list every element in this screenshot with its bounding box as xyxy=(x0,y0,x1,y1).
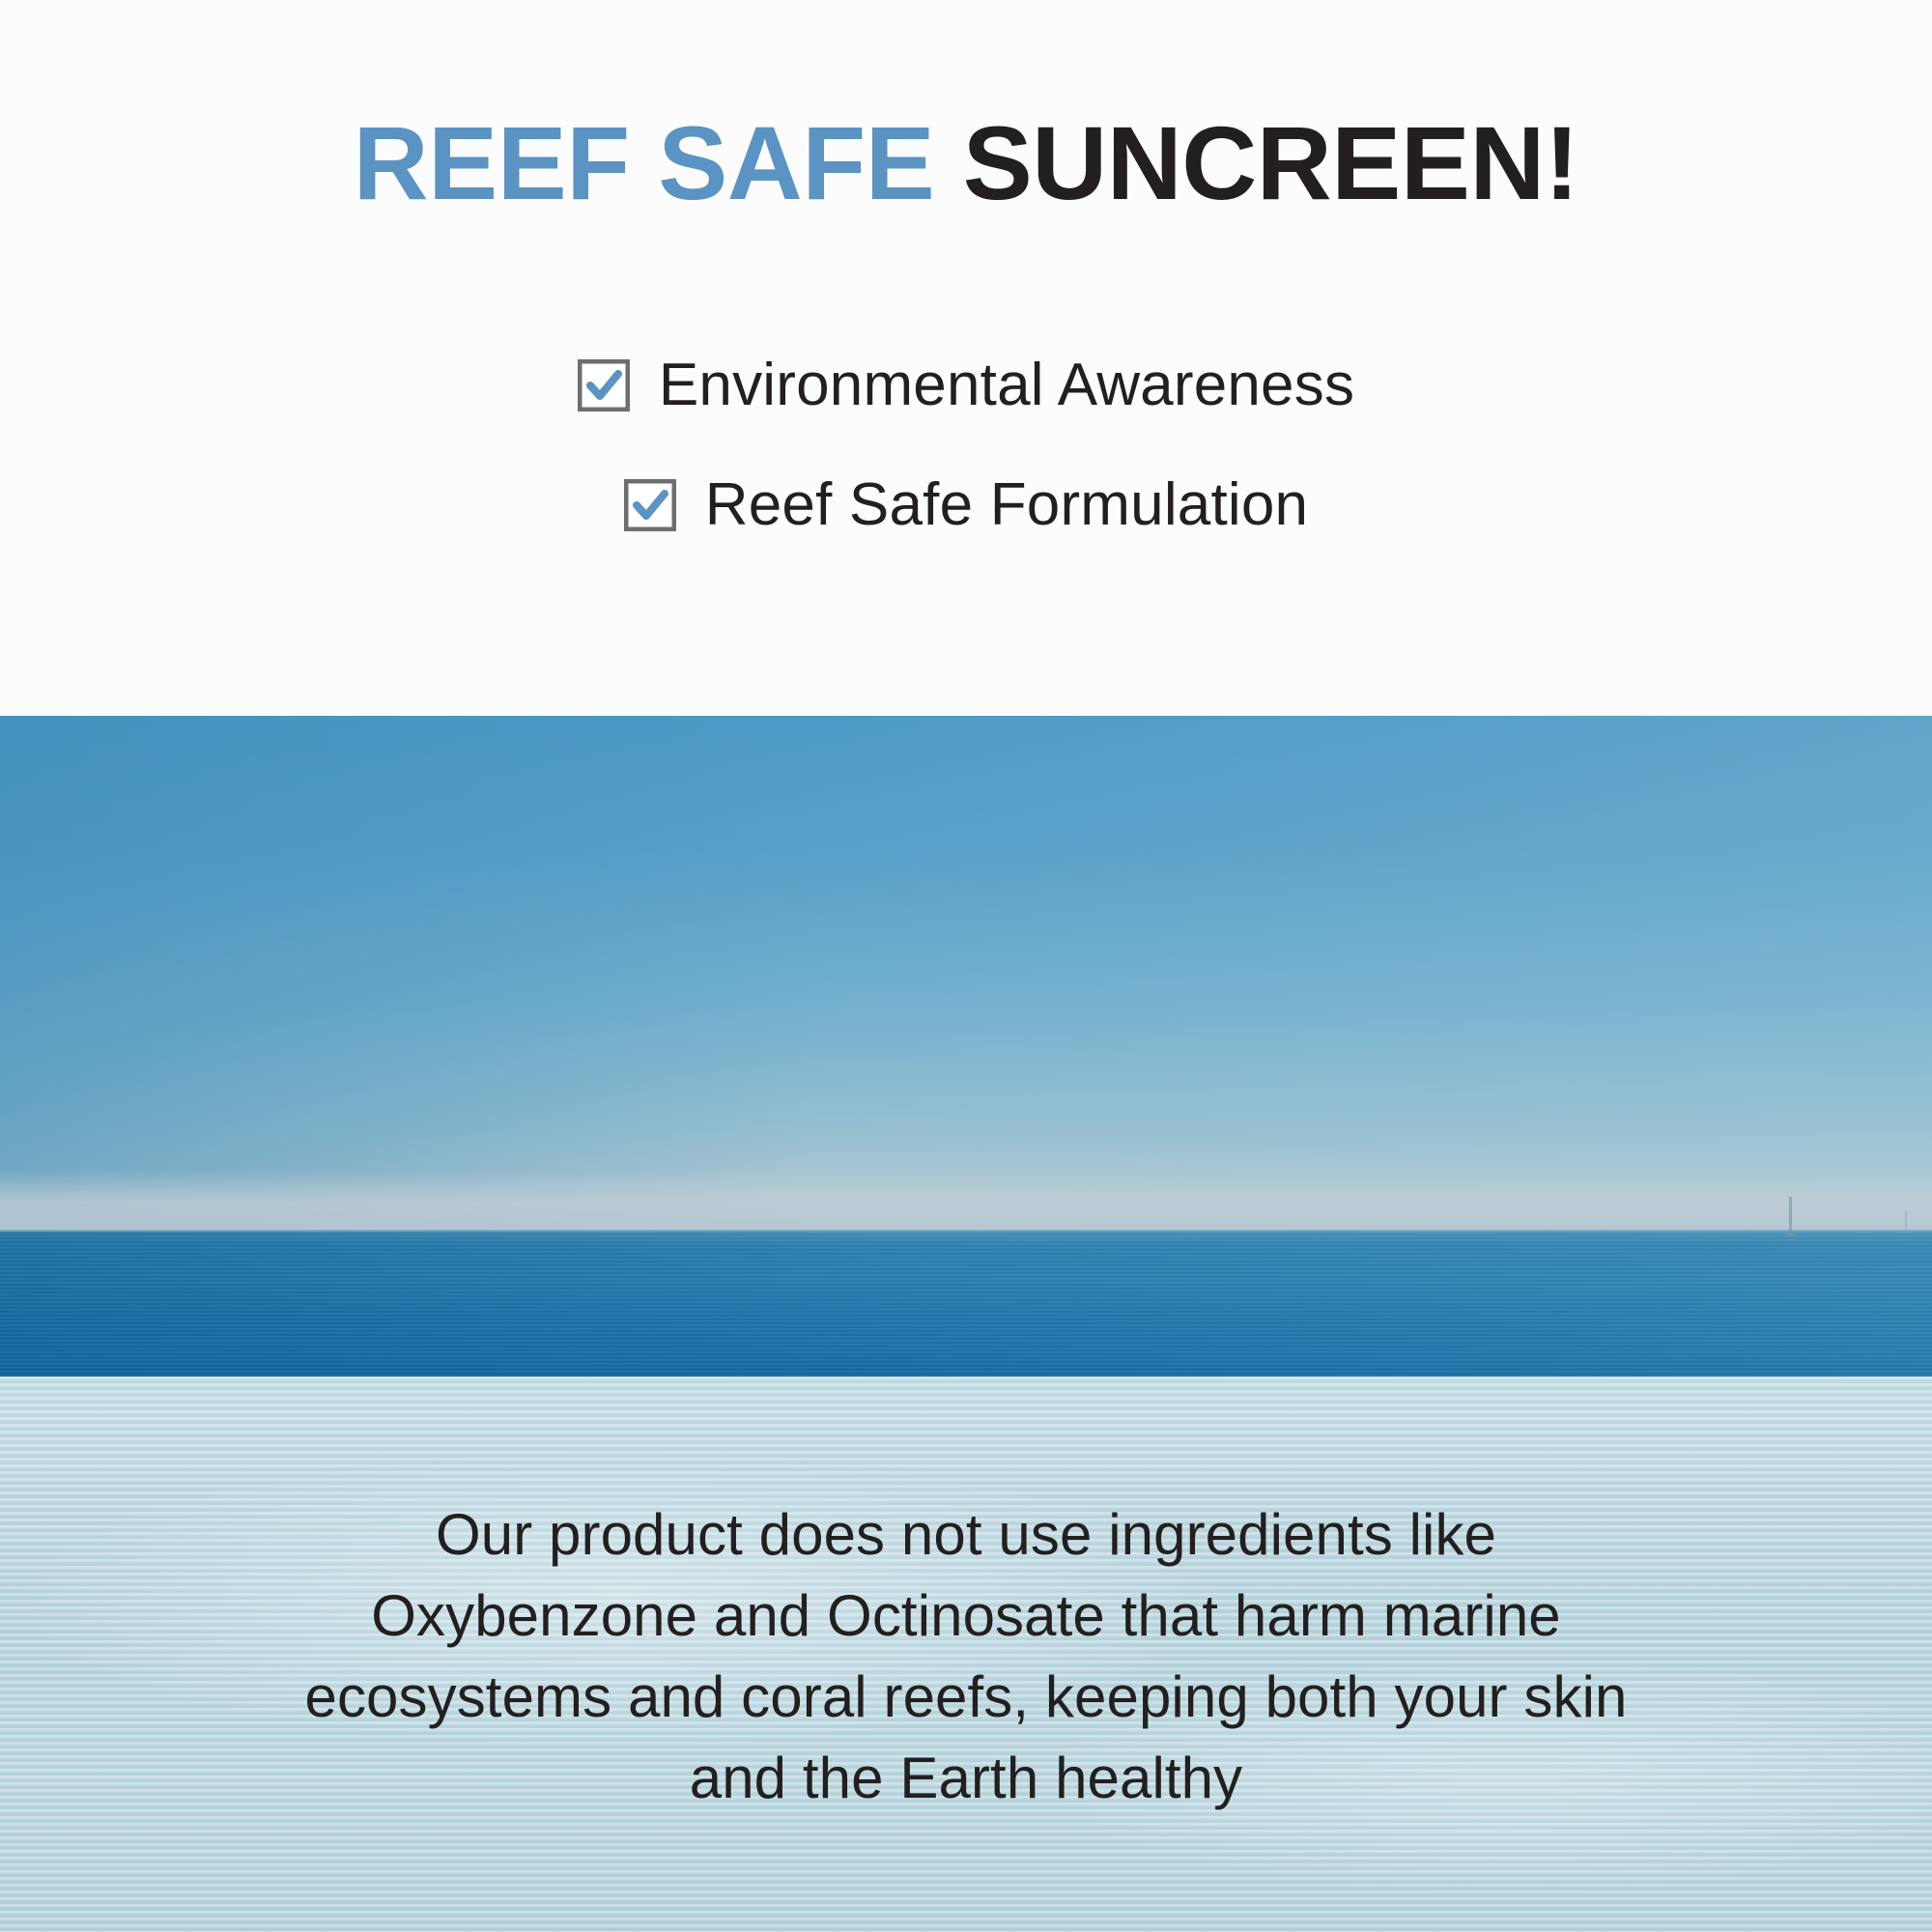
sailboat-silhouette-icon xyxy=(1789,1197,1792,1236)
list-item: Reef Safe Formulation xyxy=(624,475,1309,535)
page-title-blue-part: REEF SAFE xyxy=(354,104,935,221)
sky-region xyxy=(0,716,1932,1232)
description-text: Our product does not use ingredients lik… xyxy=(0,1377,1932,1819)
checklist-item-label: Reef Safe Formulation xyxy=(705,475,1309,535)
description-line-3: ecosystems and coral reefs, keeping both… xyxy=(0,1657,1932,1738)
page-title-dark-part: SUNCREEN! xyxy=(963,104,1579,221)
page-title: REEF SAFE SUNCREEN! xyxy=(0,108,1932,217)
checked-checkbox-icon xyxy=(578,359,630,412)
ocean-horizon-photo xyxy=(0,716,1932,1377)
checklist-item-label: Environmental Awareness xyxy=(659,355,1354,415)
description-panel: Our product does not use ingredients lik… xyxy=(0,1377,1932,1932)
list-item: Environmental Awareness xyxy=(578,355,1354,415)
checked-checkbox-icon xyxy=(624,479,676,531)
sailboat-silhouette-icon-secondary xyxy=(1905,1210,1907,1234)
description-line-2: Oxybenzone and Octinosate that harm mari… xyxy=(0,1576,1932,1657)
feature-checklist: Environmental Awareness Reef Safe Formul… xyxy=(0,355,1932,535)
description-line-1: Our product does not use ingredients lik… xyxy=(0,1494,1932,1576)
description-line-4: and the Earth healthy xyxy=(0,1738,1932,1819)
sea-region xyxy=(0,1232,1932,1377)
reef-safe-suncreen-poster: REEF SAFE SUNCREEN! Environmental Awaren… xyxy=(0,0,1932,1932)
header-panel: REEF SAFE SUNCREEN! Environmental Awaren… xyxy=(0,0,1932,716)
